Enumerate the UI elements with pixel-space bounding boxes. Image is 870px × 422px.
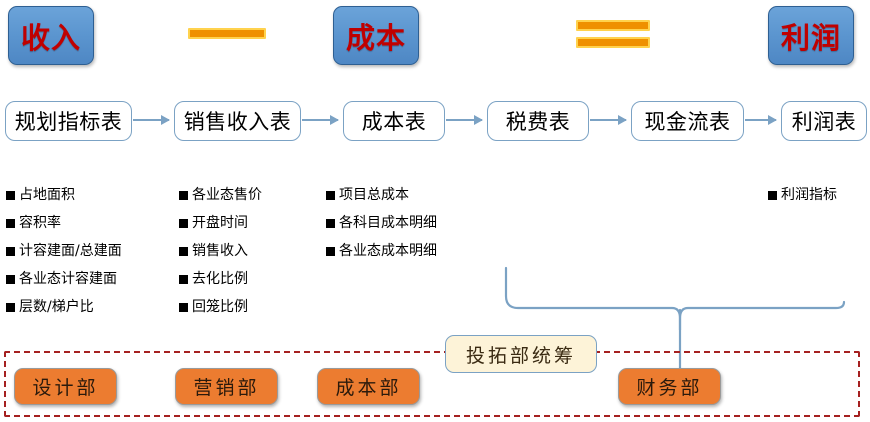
bullet-square-icon (326, 191, 335, 200)
equals-operator-bar-bottom (576, 37, 650, 48)
flow-arrow-3 (446, 119, 482, 121)
revenue-box: 收入 (8, 6, 94, 65)
cost-box-label: 成本 (346, 15, 406, 57)
list-item-label: 层数/梯户比 (19, 300, 94, 314)
flow-step-cost[interactable]: 成本表 (343, 101, 445, 141)
list-item-label: 各业态售价 (192, 188, 262, 202)
flow-step-cashflow[interactable]: 现金流表 (631, 101, 744, 141)
list-item-label: 开盘时间 (192, 216, 248, 230)
department-cost[interactable]: 成本部 (317, 368, 420, 405)
minus-operator (188, 28, 266, 39)
list-item: 各科目成本明细 (326, 216, 437, 230)
list-item: 容积率 (6, 216, 122, 230)
bullet-square-icon (6, 275, 15, 284)
bullet-square-icon (179, 191, 188, 200)
flow-step-profit-label: 利润表 (792, 106, 857, 136)
flow-arrow-4 (590, 119, 626, 121)
department-marketing-label: 营销部 (193, 373, 259, 400)
flow-step-cost-label: 成本表 (362, 106, 427, 136)
bullet-square-icon (6, 247, 15, 256)
bullet-column-cost: 项目总成本 各科目成本明细 各业态成本明细 (326, 188, 437, 272)
list-item: 各业态售价 (179, 188, 262, 202)
flow-step-tax[interactable]: 税费表 (487, 101, 589, 141)
department-design-label: 设计部 (32, 373, 98, 400)
list-item-label: 各业态计容建面 (19, 272, 117, 286)
cost-box: 成本 (333, 6, 419, 65)
list-item-label: 利润指标 (781, 188, 837, 202)
list-item: 占地面积 (6, 188, 122, 202)
list-item-label: 去化比例 (192, 272, 248, 286)
flow-step-sales-revenue[interactable]: 销售收入表 (174, 101, 301, 141)
list-item-label: 占地面积 (19, 188, 75, 202)
list-item: 各业态计容建面 (6, 272, 122, 286)
list-item-label: 各科目成本明细 (339, 216, 437, 230)
bullet-square-icon (6, 303, 15, 312)
list-item: 开盘时间 (179, 216, 262, 230)
coordinator-box-label: 投拓部统筹 (466, 341, 576, 368)
flow-step-planning-label: 规划指标表 (15, 106, 123, 136)
bullet-square-icon (6, 219, 15, 228)
list-item-label: 容积率 (19, 216, 61, 230)
bullet-square-icon (179, 303, 188, 312)
bullet-square-icon (179, 219, 188, 228)
flow-step-tax-label: 税费表 (506, 106, 571, 136)
bullet-square-icon (179, 247, 188, 256)
list-item: 销售收入 (179, 244, 262, 258)
minus-operator-bar (188, 28, 266, 39)
list-item: 各业态成本明细 (326, 244, 437, 258)
diagram-canvas: 收入 成本 利润 规划指标表 销售收入表 成本表 税费表 现金流表 利润表 占地… (0, 0, 870, 422)
department-finance[interactable]: 财务部 (618, 368, 721, 405)
coordinator-box[interactable]: 投拓部统筹 (445, 335, 597, 373)
department-finance-label: 财务部 (636, 373, 702, 400)
equals-operator (576, 20, 650, 48)
department-cost-label: 成本部 (335, 373, 401, 400)
list-item: 层数/梯户比 (6, 300, 122, 314)
bullet-square-icon (768, 191, 777, 200)
list-item: 项目总成本 (326, 188, 437, 202)
flow-arrow-1 (133, 119, 169, 121)
bullet-column-profit: 利润指标 (768, 188, 837, 216)
profit-box: 利润 (768, 6, 854, 65)
list-item: 去化比例 (179, 272, 262, 286)
flow-step-planning[interactable]: 规划指标表 (5, 101, 132, 141)
profit-box-label: 利润 (781, 15, 841, 57)
bullet-square-icon (179, 275, 188, 284)
list-item-label: 回笼比例 (192, 300, 248, 314)
list-item: 回笼比例 (179, 300, 262, 314)
equals-operator-bar-top (576, 20, 650, 31)
department-marketing[interactable]: 营销部 (175, 368, 278, 405)
department-design[interactable]: 设计部 (14, 368, 117, 405)
bullet-column-planning: 占地面积 容积率 计容建面/总建面 各业态计容建面 层数/梯户比 (6, 188, 122, 328)
list-item-label: 各业态成本明细 (339, 244, 437, 258)
bullet-square-icon (326, 247, 335, 256)
bullet-square-icon (326, 219, 335, 228)
bullet-square-icon (6, 191, 15, 200)
list-item-label: 计容建面/总建面 (19, 244, 122, 258)
flow-step-cashflow-label: 现金流表 (645, 106, 731, 136)
list-item: 利润指标 (768, 188, 837, 202)
bullet-column-sales-revenue: 各业态售价 开盘时间 销售收入 去化比例 回笼比例 (179, 188, 262, 328)
flow-arrow-5 (745, 119, 776, 121)
revenue-box-label: 收入 (21, 15, 81, 57)
list-item: 计容建面/总建面 (6, 244, 122, 258)
list-item-label: 项目总成本 (339, 188, 409, 202)
list-item-label: 销售收入 (192, 244, 248, 258)
flow-step-profit[interactable]: 利润表 (781, 101, 867, 141)
flow-arrow-2 (302, 119, 338, 121)
flow-step-sales-revenue-label: 销售收入表 (184, 106, 292, 136)
departments-region (4, 351, 860, 417)
